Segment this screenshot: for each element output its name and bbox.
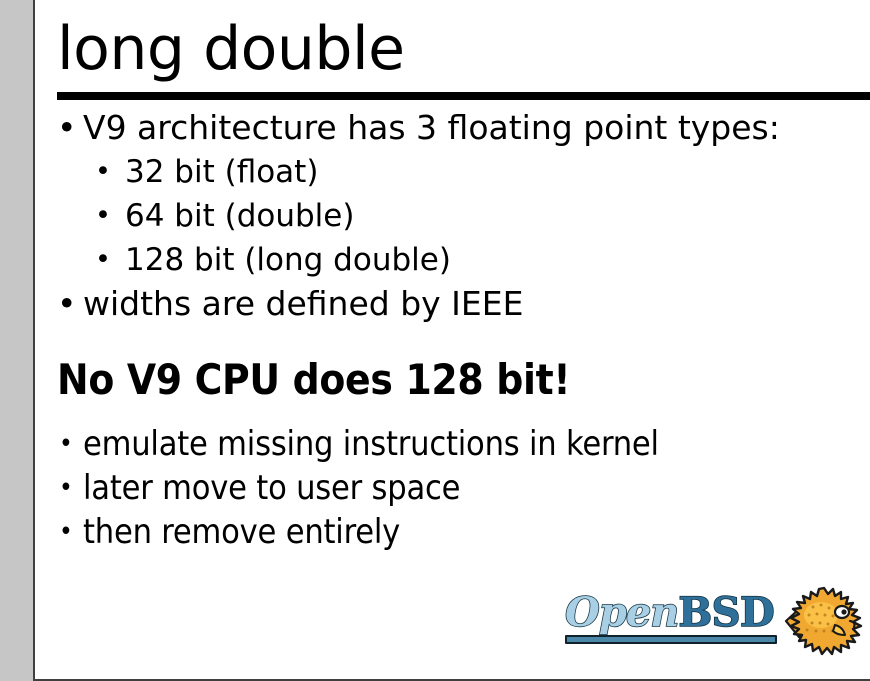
- list-item-label: emulate missing instructions in kernel: [83, 424, 659, 464]
- openbsd-wordmark: OpenBSD: [565, 591, 780, 643]
- list-item: • 64 bit (double): [35, 194, 870, 238]
- emphasis-heading: No V9 CPU does 128 bit!: [35, 352, 870, 408]
- bullet-marker-icon: •: [59, 466, 73, 510]
- list-item: • V9 architecture has 3 floating point t…: [35, 106, 870, 150]
- bullet-marker-icon: •: [95, 238, 111, 282]
- list-item: • then remove entirely: [35, 510, 870, 554]
- list-item-label: widths are defined by IEEE: [83, 284, 523, 323]
- list-item: • later move to user space: [35, 466, 870, 510]
- list-item: • emulate missing instructions in kernel: [35, 422, 870, 466]
- left-gutter-bar: [0, 0, 33, 681]
- presentation-slide: long double • V9 architecture has 3 floa…: [0, 0, 870, 681]
- list-item-label: 64 bit (double): [125, 198, 354, 234]
- slide-body: • V9 architecture has 3 floating point t…: [35, 106, 870, 554]
- slide-canvas: long double • V9 architecture has 3 floa…: [35, 0, 870, 679]
- wordmark-bsd-text: BSD: [678, 589, 774, 636]
- bullet-marker-icon: •: [57, 106, 76, 150]
- list-item: • 128 bit (long double): [35, 238, 870, 282]
- bullet-marker-icon: •: [59, 422, 73, 466]
- bullet-list-primary: • V9 architecture has 3 floating point t…: [35, 106, 870, 326]
- openbsd-wordmark-text: OpenBSD: [565, 591, 774, 635]
- list-item-label: then remove entirely: [83, 512, 400, 552]
- bullet-marker-icon: •: [57, 282, 76, 326]
- bullet-marker-icon: •: [95, 150, 111, 194]
- puffy-blowfish-icon: [783, 585, 865, 661]
- bullet-list-secondary: • emulate missing instructions in kernel…: [35, 422, 870, 554]
- wordmark-underbar: [565, 635, 777, 644]
- spacer: [35, 326, 870, 352]
- openbsd-logo: OpenBSD: [565, 585, 865, 663]
- list-item-label: V9 architecture has 3 floating point typ…: [83, 108, 780, 147]
- list-item-label: 128 bit (long double): [125, 242, 451, 278]
- bullet-marker-icon: •: [95, 194, 111, 238]
- list-item-label: 32 bit (float): [125, 154, 318, 190]
- list-item-label: later move to user space: [83, 468, 460, 508]
- title-underline-rule: [57, 92, 870, 100]
- bullet-marker-icon: •: [59, 510, 73, 554]
- slide-title: long double: [57, 14, 405, 84]
- spacer: [35, 408, 870, 422]
- list-item: • 32 bit (float): [35, 150, 870, 194]
- list-item: • widths are defined by IEEE: [35, 282, 870, 326]
- wordmark-open-text: Open: [565, 589, 678, 636]
